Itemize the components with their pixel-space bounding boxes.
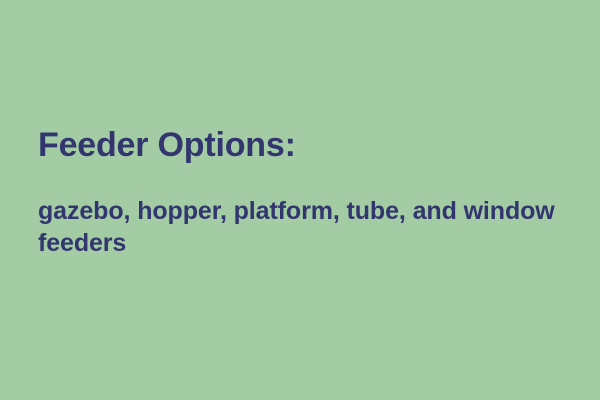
slide-canvas: Feeder Options: gazebo, hopper, platform… bbox=[0, 0, 600, 400]
text-block: Feeder Options: gazebo, hopper, platform… bbox=[38, 125, 562, 259]
feeder-options-list-text: gazebo, hopper, platform, tube, and wind… bbox=[38, 165, 562, 259]
page-title: Feeder Options: bbox=[38, 125, 562, 165]
